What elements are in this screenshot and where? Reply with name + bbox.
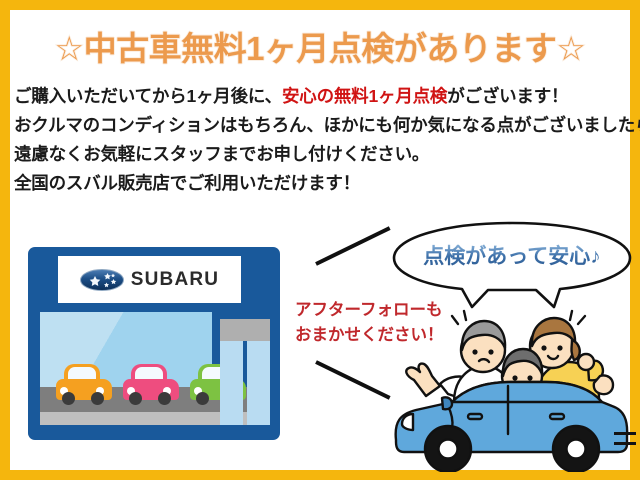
body-line-1: ご購入いただいてから1ヶ月後に、安心の無料1ヶ月点検がございます！ [14, 82, 626, 111]
car-wheel-front [129, 392, 142, 405]
excite-marks-right [570, 311, 585, 324]
motion-dash-upper [614, 432, 636, 435]
blue-family-car [396, 382, 628, 472]
body-line-2: おクルマのコンディションはもちろん、ほかにも何か気になる点がございましたら [14, 111, 626, 140]
page-title: ☆中古車無料1ヶ月点検があります☆ [10, 22, 630, 70]
speech-bubble: 点検があって安心♪ [388, 219, 636, 311]
car-window [135, 367, 163, 379]
body-line-1-part-1: ご購入いただいてから1ヶ月後に、 [14, 86, 282, 106]
motion-dash-lower [614, 442, 636, 445]
body-line-1-highlight: 安心の無料1ヶ月点検 [282, 86, 447, 106]
subaru-brand-text: SUBARU [131, 269, 219, 291]
body-line-4: 全国のスバル販売店でご利用いただけます！ [14, 169, 626, 198]
entrance-door-right [247, 341, 270, 425]
chevron-arrow-lower [315, 360, 390, 400]
subaru-logo-icon [80, 267, 124, 293]
dealership-signboard: SUBARU [58, 256, 241, 303]
chevron-arrow-upper [315, 226, 390, 266]
body-line-1-part-3: がございます！ [447, 86, 568, 106]
car-wheel-rear [91, 392, 104, 405]
family-car-graphic [386, 302, 638, 472]
banner-canvas: ☆中古車無料1ヶ月点検があります☆ ご購入いただいてから1ヶ月後に、安心の無料1… [10, 10, 630, 470]
car-wheel-rear [158, 392, 171, 405]
body-line-3: 遠慮なくお気軽にスタッフまでお申し付けください。 [14, 140, 626, 169]
excite-marks-left [452, 311, 466, 324]
body-copy: ご購入いただいてから1ヶ月後に、安心の無料1ヶ月点検がございます！ おクルマのコ… [14, 82, 626, 198]
car-wheel-front [62, 392, 75, 405]
mother-fist [594, 375, 613, 394]
dealership-entrance [220, 319, 270, 425]
advertisement-banner: ☆中古車無料1ヶ月点検があります☆ ご購入いただいてから1ヶ月後に、安心の無料1… [0, 0, 640, 480]
dealership-illustration: SUBARU [28, 247, 280, 440]
entrance-door-left [220, 341, 243, 425]
entrance-header [220, 319, 270, 341]
car-wheel-front [196, 392, 209, 405]
speech-bubble-text: 点検があって安心♪ [388, 240, 636, 270]
car-window [68, 367, 96, 379]
family-car-illustration [386, 302, 638, 472]
